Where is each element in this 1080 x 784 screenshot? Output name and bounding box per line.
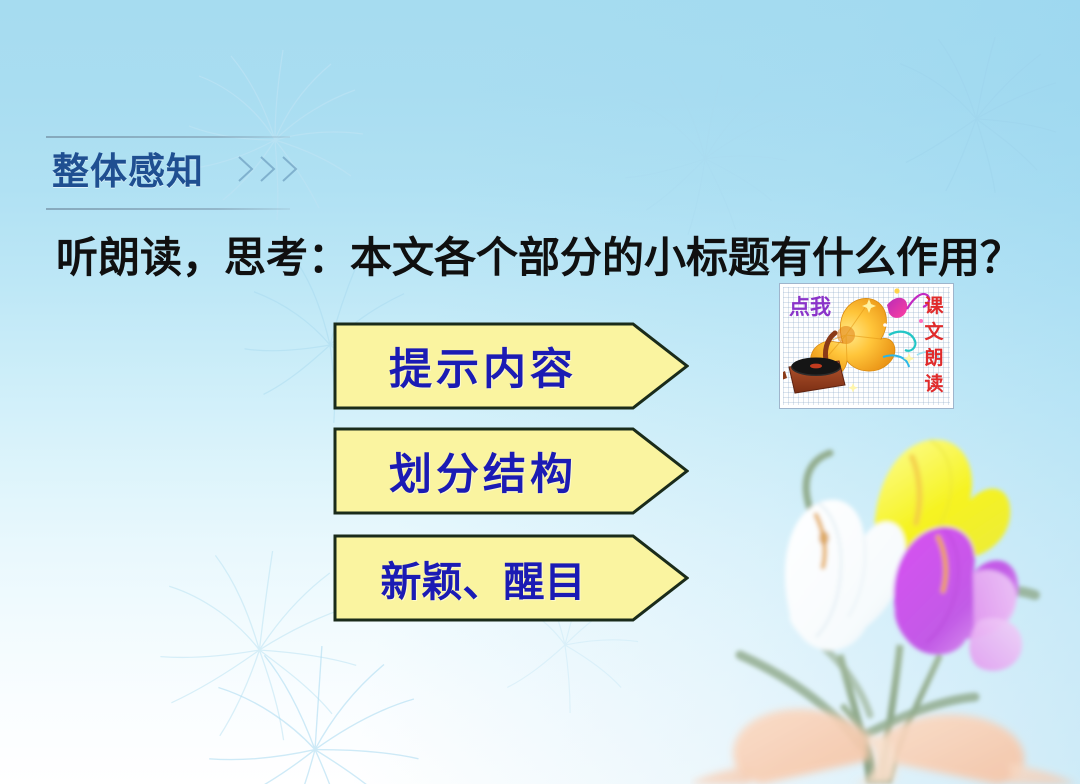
arrow-shape-icon [333, 534, 689, 622]
slide-canvas: 整体感知 听朗读，思考：本文各个部分的小标题有什么作用？ 提示内容 [0, 0, 1080, 784]
firework-watermark-icon [600, 60, 810, 250]
chevron-right-icon [258, 154, 278, 184]
chevron-right-icon [280, 154, 300, 184]
arrow-banner: 提示内容 [333, 322, 689, 410]
header-rule-bottom [46, 208, 290, 210]
caption-char: 读 [922, 371, 946, 397]
chevron-group [236, 154, 300, 184]
audio-thumbnail-inner: 点我 课 文 朗 读 [783, 287, 950, 405]
arrow-banner: 划分结构 [333, 427, 689, 515]
arrow-shape-icon [333, 427, 689, 515]
page-title: 整体感知 [52, 145, 204, 199]
firework-watermark-icon [180, 630, 450, 784]
audio-playback-thumbnail[interactable]: 点我 课 文 朗 读 [779, 283, 954, 409]
arrow-banner: 新颖、醒目 [333, 534, 689, 622]
arrow-shape-icon [333, 322, 689, 410]
section-header: 整体感知 [40, 136, 290, 210]
header-rule-top [46, 136, 290, 138]
click-me-label: 点我 [789, 291, 831, 321]
question-text: 听朗读，思考：本文各个部分的小标题有什么作用？ [56, 224, 1036, 285]
caption-char: 朗 [922, 345, 946, 371]
firework-watermark-icon [880, 20, 1080, 210]
audio-thumbnail-caption: 课 文 朗 读 [922, 293, 946, 397]
crocus-bouquet-illustration [690, 405, 1080, 784]
chevron-right-icon [236, 154, 256, 184]
caption-char: 文 [922, 319, 946, 345]
caption-char: 课 [922, 293, 946, 319]
